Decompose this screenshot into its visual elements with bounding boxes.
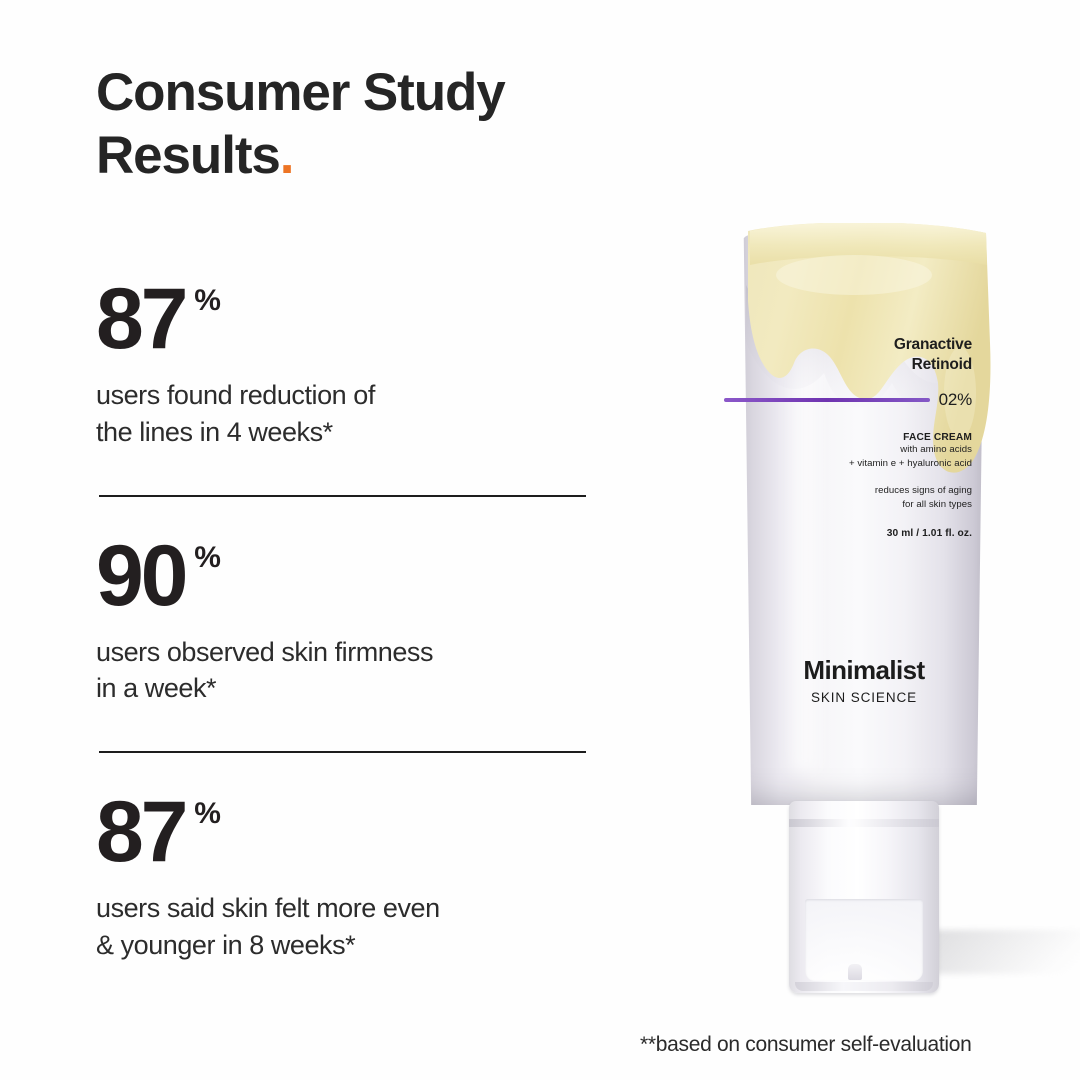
- cap-ring: [789, 819, 939, 827]
- stat-description: users said skin felt more even & younger…: [96, 890, 596, 963]
- stat-divider: [99, 751, 586, 753]
- stat-item: 87 % users found reduction of the lines …: [96, 280, 596, 451]
- stat-number: 90: [96, 537, 185, 616]
- percent-icon: %: [194, 799, 220, 829]
- footnote: **based on consumer self-evaluation: [640, 1033, 972, 1057]
- percent-icon: %: [194, 286, 220, 316]
- stat-description: users observed skin firmness in a week*: [96, 634, 596, 707]
- percent-icon: %: [194, 543, 220, 573]
- cap-nub: [848, 964, 862, 980]
- product-label: Granactive Retinoid 02% FACE CREAM with …: [782, 335, 972, 539]
- product-ingredients: with amino acids + vitamin e + hyaluroni…: [782, 443, 972, 471]
- poster-canvas: Consumer Study Results. 87 % users found…: [0, 0, 1080, 1080]
- stat-value-row: 87 %: [96, 793, 596, 872]
- product-size: 30 ml / 1.01 fl. oz.: [782, 528, 972, 539]
- stat-value-row: 90 %: [96, 537, 596, 616]
- purple-rule: [724, 398, 930, 402]
- product-name: Granactive Retinoid: [782, 335, 972, 375]
- tube-cap: [789, 801, 939, 993]
- page-title: Consumer Study Results.: [96, 62, 656, 187]
- product-benefits: reduces signs of aging for all skin type…: [782, 484, 972, 512]
- product-type: FACE CREAM: [782, 432, 972, 443]
- stats-list: 87 % users found reduction of the lines …: [96, 280, 596, 964]
- product-image: Granactive Retinoid 02% FACE CREAM with …: [690, 195, 1080, 1025]
- stat-divider: [99, 495, 586, 497]
- stat-number: 87: [96, 793, 185, 872]
- page-title-line-2-text: Results: [96, 126, 280, 185]
- concentration-value: 02%: [939, 390, 972, 410]
- stat-item: 87 % users said skin felt more even & yo…: [96, 793, 596, 964]
- cap-base: [795, 982, 933, 991]
- accent-period: .: [280, 126, 294, 185]
- stat-description: users found reduction of the lines in 4 …: [96, 377, 596, 450]
- concentration-row: 02%: [782, 390, 972, 410]
- stat-number: 87: [96, 280, 185, 359]
- page-title-line-1: Consumer Study: [96, 62, 656, 125]
- page-title-line-2: Results.: [96, 125, 656, 188]
- stat-value-row: 87 %: [96, 280, 596, 359]
- brand-name: Minimalist: [740, 655, 988, 686]
- brand-block: Minimalist SKIN SCIENCE: [740, 655, 988, 705]
- stat-item: 90 % users observed skin firmness in a w…: [96, 537, 596, 708]
- cap-inner-panel: [805, 899, 923, 981]
- brand-tagline: SKIN SCIENCE: [740, 690, 988, 705]
